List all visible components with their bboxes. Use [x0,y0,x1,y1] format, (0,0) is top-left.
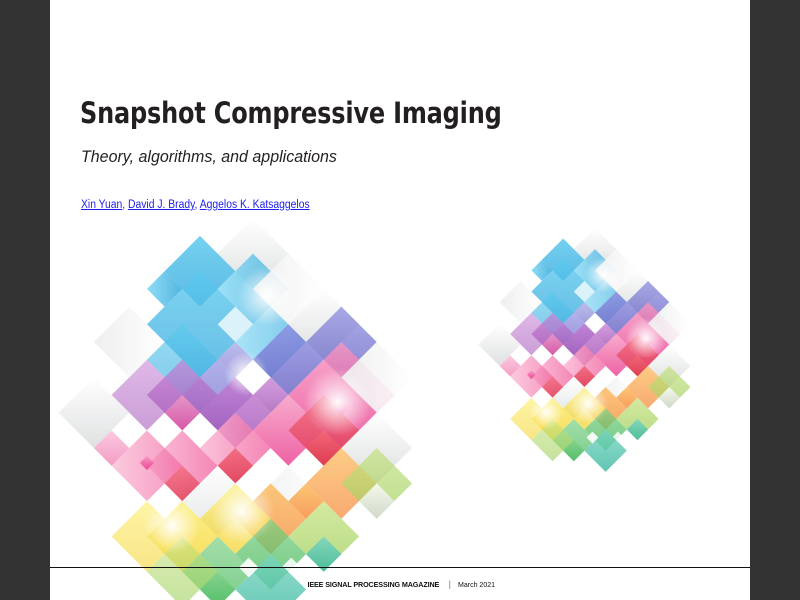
right-letterbox-bar [750,0,800,600]
footer-date: March 2021 [458,580,495,589]
left-letterbox-bar [0,0,50,600]
footer: IEEE SIGNAL PROCESSING MAGAZINE|March 20… [50,574,750,592]
author-link-2[interactable]: David J. Brady [128,199,195,211]
slide-canvas: Snapshot Compressive Imaging Theory, alg… [0,0,800,600]
page-subtitle: Theory, algorithms, and applications [81,148,337,167]
mosaic-artwork-large [78,230,428,560]
author-link-3[interactable]: Aggelos K. Katsaggelos [200,199,310,211]
author-link-1[interactable]: Xin Yuan [81,199,122,211]
footer-divider: | [443,579,457,589]
author-list: Xin Yuan, David J. Brady, Aggelos K. Kat… [81,199,310,211]
footer-magazine-name: IEEE SIGNAL PROCESSING MAGAZINE [307,580,439,589]
slide-page: Snapshot Compressive Imaging Theory, alg… [50,0,750,600]
page-title: Snapshot Compressive Imaging [80,96,502,130]
mosaic-artwork-small [490,232,700,437]
footer-divider-rule [50,567,750,568]
